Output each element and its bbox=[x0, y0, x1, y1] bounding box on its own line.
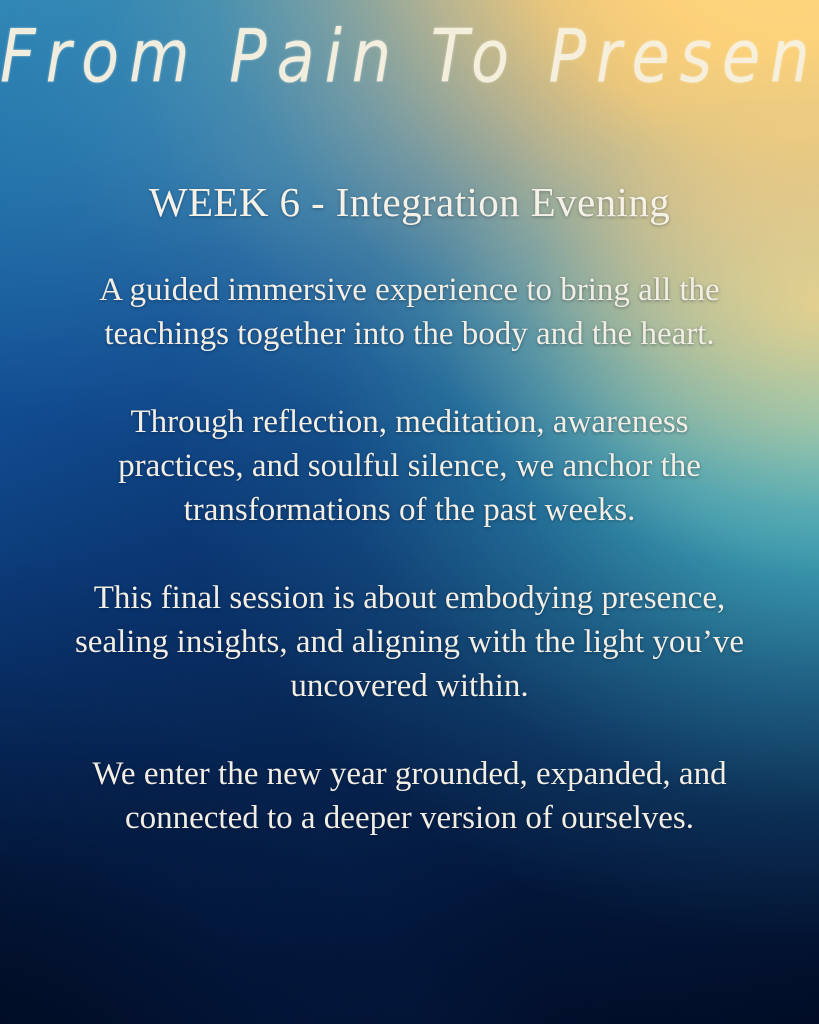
poster-content: From Pain To Presence WEEK 6 - Integrati… bbox=[0, 0, 819, 1024]
paragraph-practices: Through reflection, meditation, awarenes… bbox=[52, 400, 767, 532]
brand-title: From Pain To Presence bbox=[0, 18, 819, 95]
paragraph-intro: A guided immersive experience to bring a… bbox=[52, 268, 767, 356]
body-copy: A guided immersive experience to bring a… bbox=[52, 268, 767, 840]
session-title: WEEK 6 - Integration Evening bbox=[0, 178, 819, 226]
poster-canvas: From Pain To Presence WEEK 6 - Integrati… bbox=[0, 0, 819, 1024]
paragraph-final-session: This final session is about embodying pr… bbox=[52, 576, 767, 708]
paragraph-closing: We enter the new year grounded, expanded… bbox=[52, 752, 767, 840]
